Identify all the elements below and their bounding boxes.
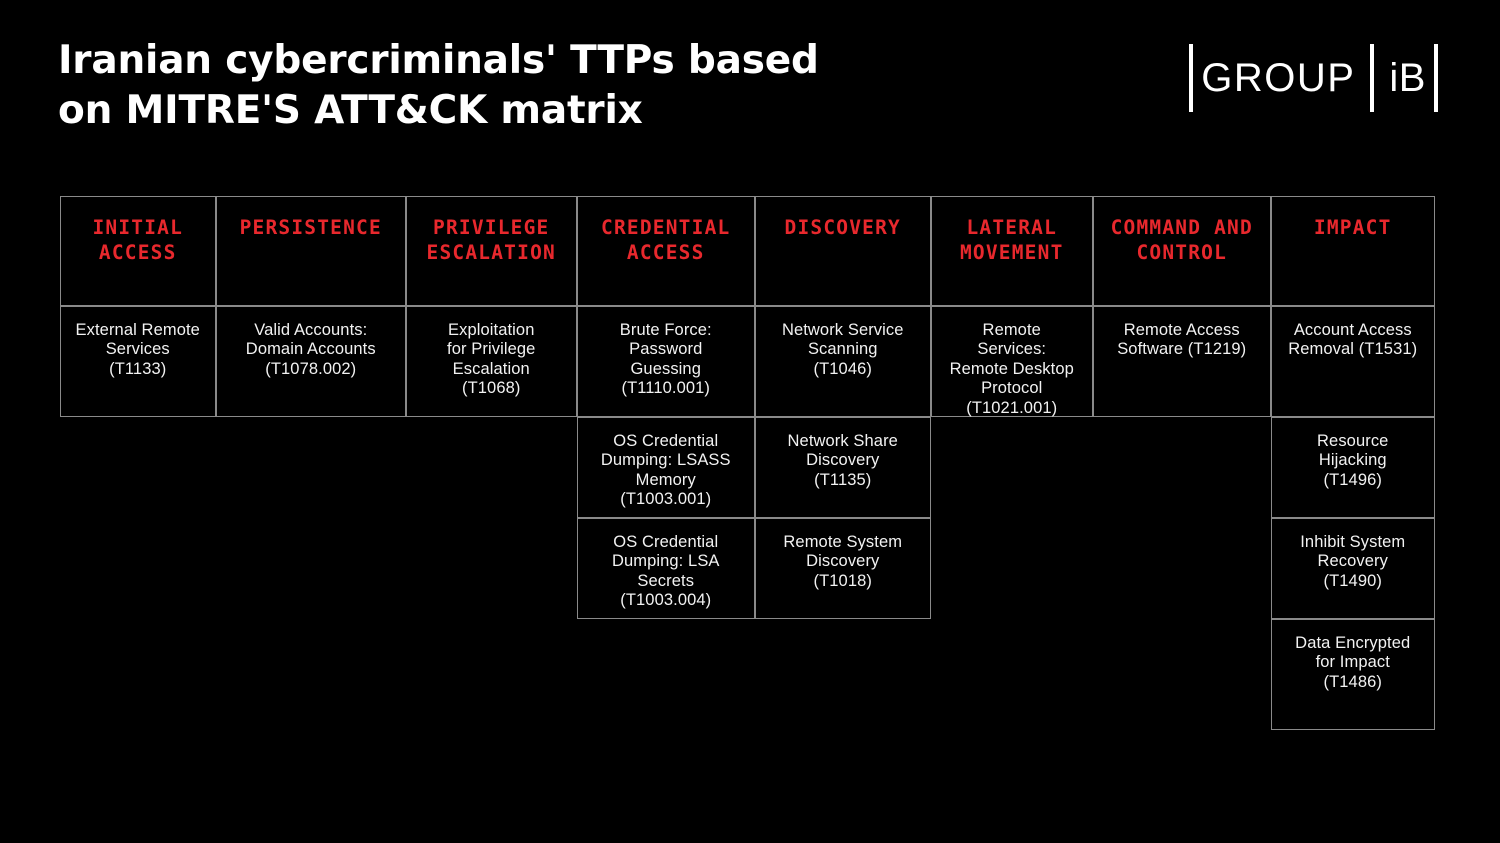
attack-matrix-table: INITIAL ACCESSPERSISTENCEPRIVILEGE ESCAL… [60, 196, 1435, 730]
group-ib-logo: GROUP iB [1189, 44, 1438, 112]
matrix-cell: Brute Force: Password Guessing (T1110.00… [577, 306, 756, 418]
logo-right-bar-icon [1434, 44, 1438, 112]
logo-word-ib: iB [1381, 44, 1434, 112]
page-title: Iranian cybercriminals' TTPs based on MI… [58, 36, 958, 136]
matrix-cell: OS Credential Dumping: LSA Secrets (T100… [577, 518, 756, 620]
matrix-cell: Inhibit System Recovery (T1490) [1271, 518, 1436, 620]
matrix-cell: Remote Access Software (T1219) [1093, 306, 1272, 418]
slide-canvas: Iranian cybercriminals' TTPs based on MI… [0, 0, 1500, 843]
matrix-cell: Network Share Discovery (T1135) [755, 417, 932, 519]
logo-word-group: GROUP [1193, 44, 1363, 112]
matrix-header-4: CREDENTIAL ACCESS [577, 196, 756, 307]
matrix-header-5: DISCOVERY [755, 196, 932, 307]
matrix-cell: OS Credential Dumping: LSASS Memory (T10… [577, 417, 756, 519]
matrix-cell: Valid Accounts: Domain Accounts (T1078.0… [216, 306, 407, 418]
matrix-header-7: COMMAND AND CONTROL [1093, 196, 1272, 307]
matrix-cell: Remote System Discovery (T1018) [755, 518, 932, 620]
matrix-cell: Data Encrypted for Impact (T1486) [1271, 619, 1436, 731]
matrix-cell: Resource Hijacking (T1496) [1271, 417, 1436, 519]
matrix-cell: Account Access Removal (T1531) [1271, 306, 1436, 418]
matrix-header-6: LATERAL MOVEMENT [931, 196, 1094, 307]
logo-middle-bar-icon [1370, 44, 1374, 112]
matrix-header-1: INITIAL ACCESS [60, 196, 217, 307]
matrix-header-8: IMPACT [1271, 196, 1436, 307]
matrix-cell: Remote Services: Remote Desktop Protocol… [931, 306, 1094, 418]
matrix-cell: Exploitation for Privilege Escalation (T… [406, 306, 578, 418]
matrix-header-3: PRIVILEGE ESCALATION [406, 196, 578, 307]
matrix-cell: External Remote Services (T1133) [60, 306, 217, 418]
matrix-header-2: PERSISTENCE [216, 196, 407, 307]
matrix-cell: Network Service Scanning (T1046) [755, 306, 932, 418]
